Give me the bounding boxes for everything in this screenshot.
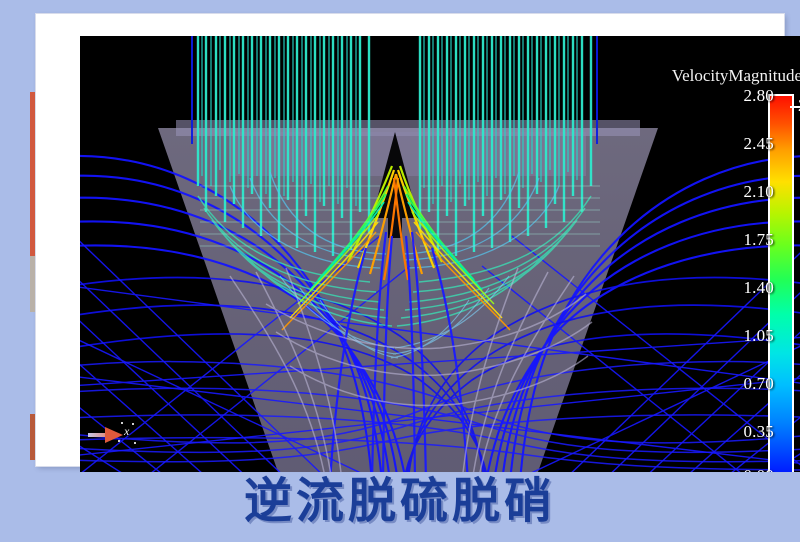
colorbar-tick-0: 2.80 <box>743 86 774 106</box>
render-frame: VelocityMagnitude 2.80 2.45 2.10 1.75 1.… <box>36 14 784 466</box>
colorbar-tick-4: 1.40 <box>743 278 774 298</box>
frame-edge-stripe-top <box>30 92 35 256</box>
axis-spark <box>118 440 120 442</box>
axis-spark <box>121 422 123 424</box>
colorbar-title: VelocityMagnitude <box>672 66 800 86</box>
colorbar-tick-6: 0.70 <box>743 374 774 394</box>
frame-edge-stripe-middle <box>30 256 35 312</box>
slide-root: VelocityMagnitude 2.80 2.45 2.10 1.75 1.… <box>0 0 800 542</box>
slide-caption: 逆流脱硫脱硝 <box>0 470 800 532</box>
colorbar-legend: VelocityMagnitude 2.80 2.45 2.10 1.75 1.… <box>720 66 800 472</box>
axis-spark <box>134 442 136 444</box>
axis-orientation-widget: x <box>88 420 144 450</box>
scene-3d: VelocityMagnitude 2.80 2.45 2.10 1.75 1.… <box>80 36 800 472</box>
colorbar-tick-2: 2.10 <box>743 182 774 202</box>
render-canvas[interactable]: VelocityMagnitude 2.80 2.45 2.10 1.75 1.… <box>80 36 800 472</box>
colorbar-tick-1: 2.45 <box>743 134 774 154</box>
colorbar-tick-7: 0.35 <box>743 422 774 442</box>
colorbar-tick-3: 1.75 <box>743 230 774 250</box>
x-axis-arrow-icon <box>105 427 123 443</box>
colorbar-tick-5: 1.05 <box>743 326 774 346</box>
frame-edge-stripe-bottom <box>30 414 35 460</box>
x-axis-label: x <box>124 424 129 439</box>
streamline-layer-back-wireframe <box>80 36 800 472</box>
axis-spark <box>132 423 134 425</box>
